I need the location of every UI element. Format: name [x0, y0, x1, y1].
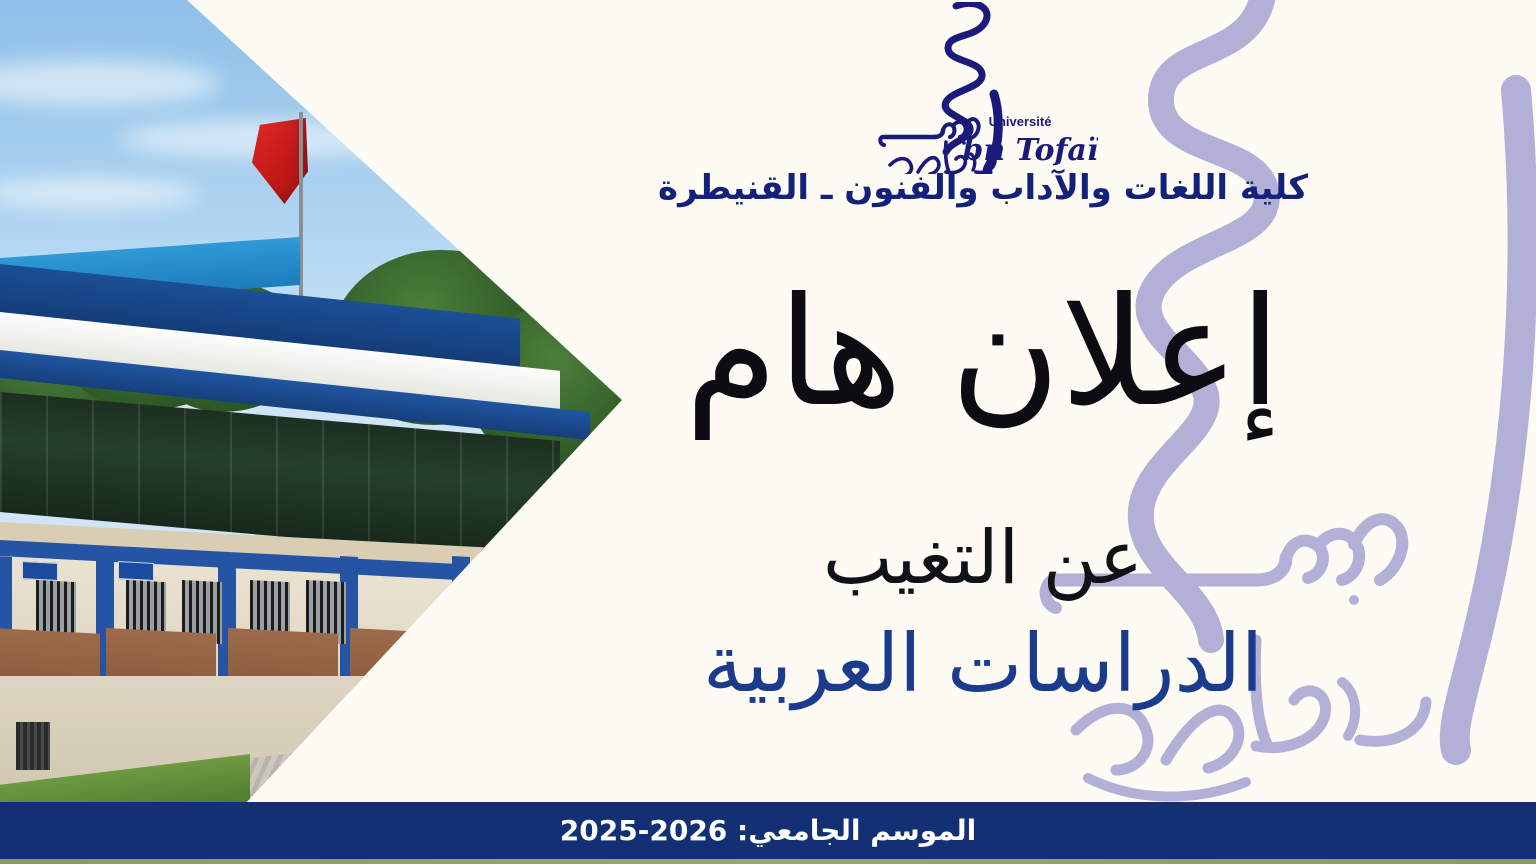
page-title: إعلان هام [430, 252, 1536, 455]
footer-bar: الموسم الجامعي: 2026-2025 [0, 802, 1536, 859]
footer-bottom-strip [0, 859, 1536, 864]
faculty-name: كلية اللغات والآداب والفنون ـ القنيطرة [430, 168, 1536, 209]
trash-bin [16, 722, 50, 770]
subtitle-department: الدراسات العربية [430, 614, 1536, 714]
announcement-poster: Université bn Tofaïl كلية اللغات والآداب… [0, 0, 1536, 864]
academic-year-label: الموسم الجامعي: 2026-2025 [560, 814, 976, 847]
poster-content: Université bn Tofaïl كلية اللغات والآداب… [430, 0, 1536, 806]
ibn-tofail-university-logo: Université bn Tofaïl [868, 2, 1098, 174]
svg-text:bn Tofaïl: bn Tofaïl [962, 133, 1098, 168]
subtitle-topic: عن التغيب [430, 512, 1536, 605]
svg-text:Université: Université [989, 114, 1052, 129]
